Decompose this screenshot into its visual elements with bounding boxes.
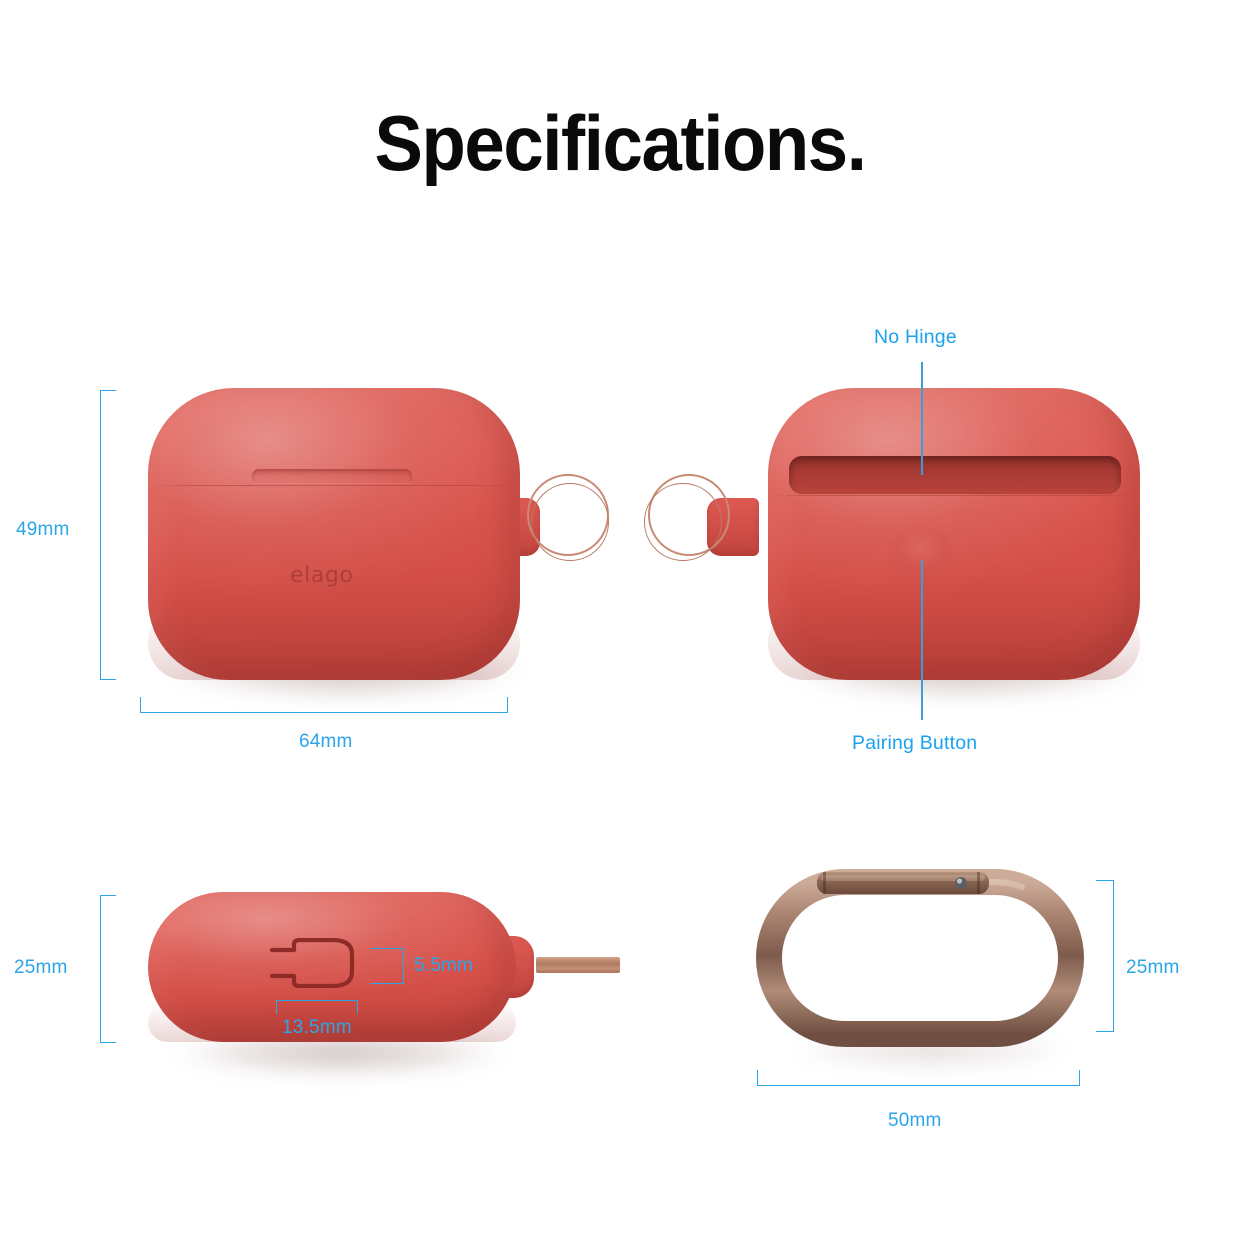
- specifications-page: Specifications. elago 49mm 64mm: [0, 0, 1240, 1240]
- hinge-groove: [789, 456, 1121, 494]
- front-height-bracket: [100, 390, 116, 680]
- port-width-bracket: [276, 1000, 358, 1014]
- back-seam-line: [772, 495, 1136, 496]
- front-case-body: [148, 388, 520, 680]
- pairing-button-label: Pairing Button: [852, 732, 977, 755]
- charging-port-cutout: [270, 938, 370, 988]
- no-hinge-leader-line: [921, 362, 923, 475]
- carabiner-width-label: 50mm: [888, 1110, 942, 1132]
- pairing-button-leader-line: [921, 560, 923, 720]
- carabiner-height-label: 25mm: [1126, 957, 1180, 979]
- bottom-height-label: 25mm: [14, 957, 68, 979]
- no-hinge-label: No Hinge: [874, 326, 957, 349]
- carabiner-ring: [755, 868, 1085, 1048]
- port-width-label: 13.5mm: [282, 1017, 352, 1039]
- carabiner-width-bracket: [757, 1070, 1080, 1086]
- port-height-bracket: [370, 948, 404, 984]
- front-lid-indent: [252, 469, 412, 483]
- bottom-height-bracket: [100, 895, 116, 1043]
- back-split-ring-inner: [644, 483, 722, 561]
- front-width-bracket: [140, 697, 508, 713]
- port-height-label: 5.5mm: [414, 955, 473, 977]
- front-width-label: 64mm: [299, 731, 353, 753]
- back-case-body: [768, 388, 1140, 680]
- front-height-label: 49mm: [16, 519, 70, 541]
- page-title: Specifications.: [43, 98, 1196, 189]
- elago-logo: elago: [290, 563, 354, 588]
- carabiner-height-bracket: [1096, 880, 1114, 1032]
- front-split-ring-inner: [531, 483, 609, 561]
- bottom-keyring-bars: [536, 957, 620, 973]
- front-seam-line: [152, 485, 516, 486]
